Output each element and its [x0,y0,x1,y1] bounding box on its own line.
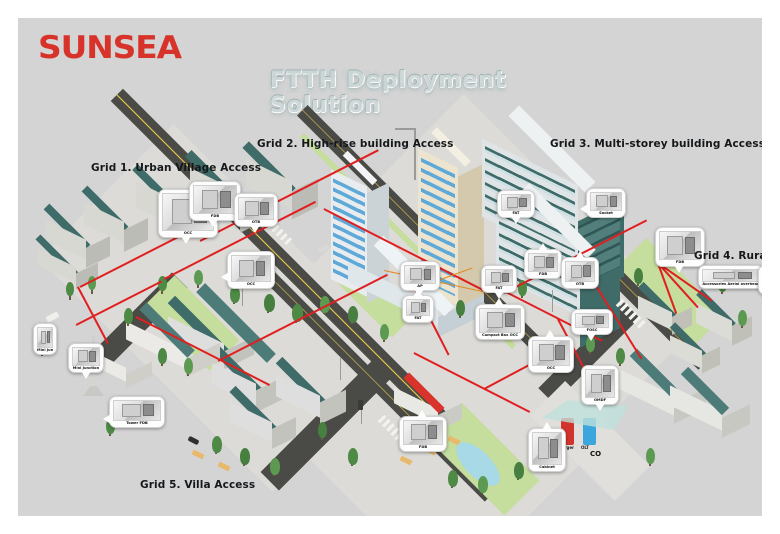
omdf-rack-icon [585,369,615,398]
traffic-light-icon [358,400,363,410]
car [45,311,59,322]
callout-tail [595,403,605,411]
callout-otb-village[interactable]: OTB [234,193,278,227]
callout-tail [103,414,111,424]
callout-occ-street[interactable]: OCC [227,251,275,289]
callout-label: Tower FDB [113,421,161,426]
park-bench [192,450,205,460]
utility-pole-crossarm [395,128,415,130]
fiber-box-icon [403,420,443,445]
callout-tail [208,219,218,227]
callout-label: Mini Junction [37,348,53,353]
outdoor-cabinet-icon [231,255,271,282]
callout-tail [542,422,552,430]
access-point-icon [404,265,436,284]
callout-label: OCC [231,282,271,287]
tower-fdb-icon [113,400,161,421]
callout-label: FDB [528,272,558,277]
grid-label-grid3: Grid 3. Multi-storey building Access [550,138,762,150]
clamp-icon [501,194,531,211]
splice-closure-icon [238,197,274,220]
callout-tail [181,236,191,244]
cabinet-icon [532,432,562,465]
callout-tail [538,243,548,251]
callout-label: Cabinet [532,465,562,470]
callout-fat-multi[interactable]: FAT [497,190,535,218]
aerial-accessories-icon [702,269,760,282]
fosc-icon [575,313,609,328]
grid-label-grid4: Grid 4. Rural Access [694,250,762,262]
callout-tail [580,204,588,214]
callout-tail [250,225,260,233]
fat-box-icon [406,299,430,316]
infographic-page: SUNSEA FTTH Deployment Solution FTTH Dep… [0,0,780,534]
callout-mini-junction[interactable]: Mini Junction [68,343,104,373]
callout-tail [545,330,555,338]
callout-label: FAT [406,316,430,321]
callout-label: Compact Box OCC [479,333,521,338]
clamp-icon [485,269,513,286]
callout-tail [221,272,229,282]
compact-box-icon [479,308,521,333]
callout-fdb-villa[interactable]: FDB [399,416,447,452]
grid-label-grid5: Grid 5. Villa Access [140,479,255,491]
callout-ap-tower[interactable]: AP [400,261,440,291]
callout-tail [586,333,596,341]
callout-label: OCC [532,366,570,371]
co-equipment-label-olt: OLT [581,445,589,450]
callout-fat-highrise[interactable]: FAT [402,295,434,323]
callout-omdf[interactable]: OMDF [581,365,619,405]
grid-label-grid1: Grid 1. Urban Village Access [91,162,261,174]
callout-label: FDB [403,445,443,450]
callout-acc-aerial[interactable]: Accessories Aerial overhead [698,265,762,289]
callout-tail [575,251,585,259]
callout-tail [81,371,91,379]
callout-fat-street[interactable]: FAT [481,265,517,293]
callout-socket-rural[interactable]: Socket [758,265,762,295]
callout-label: Socket [590,211,622,216]
callout-label: Accessories Aerial overhead [702,282,760,287]
callout-tail [494,298,504,306]
static-label-co: CO [590,450,601,458]
park-bench [218,462,231,472]
callout-fosc[interactable]: FOSC [571,309,613,335]
mini-junction-icon [37,327,53,348]
callout-socket-multi[interactable]: Socket [586,188,626,218]
callout-tail [417,410,427,418]
mini-junction-icon [72,347,100,366]
callout-cbox-occ[interactable]: Compact Box OCC [475,304,525,340]
fiber-box-icon [528,253,558,272]
callout-fdb-multi[interactable]: FDB [524,249,562,279]
diagram-canvas: SUNSEA FTTH Deployment Solution FTTH Dep… [18,18,762,516]
street-lamp [340,358,341,380]
car [187,436,199,445]
outdoor-cabinet-icon [532,340,570,366]
callout-tail [674,265,684,273]
callout-tail [511,216,521,224]
utility-pole [414,128,416,180]
callout-mini-junction2[interactable]: Mini Junction [33,323,57,355]
callout-occ-road[interactable]: OCC [528,336,574,373]
grid-label-grid2: Grid 2. High-rise building Access [257,138,454,150]
callout-label: OTB [565,282,595,287]
callout-tail [413,289,423,297]
callout-tower-fdb[interactable]: Tower FDB [109,396,165,428]
isometric-city-scene: Charger OLT [18,18,762,516]
callout-cabinet[interactable]: Cabinet [528,428,566,472]
street-lamp [552,290,553,312]
callout-otb-multi[interactable]: OTB [561,257,599,289]
fiber-box-icon [193,185,237,214]
socket-icon [590,192,622,211]
otb-icon [565,261,595,282]
